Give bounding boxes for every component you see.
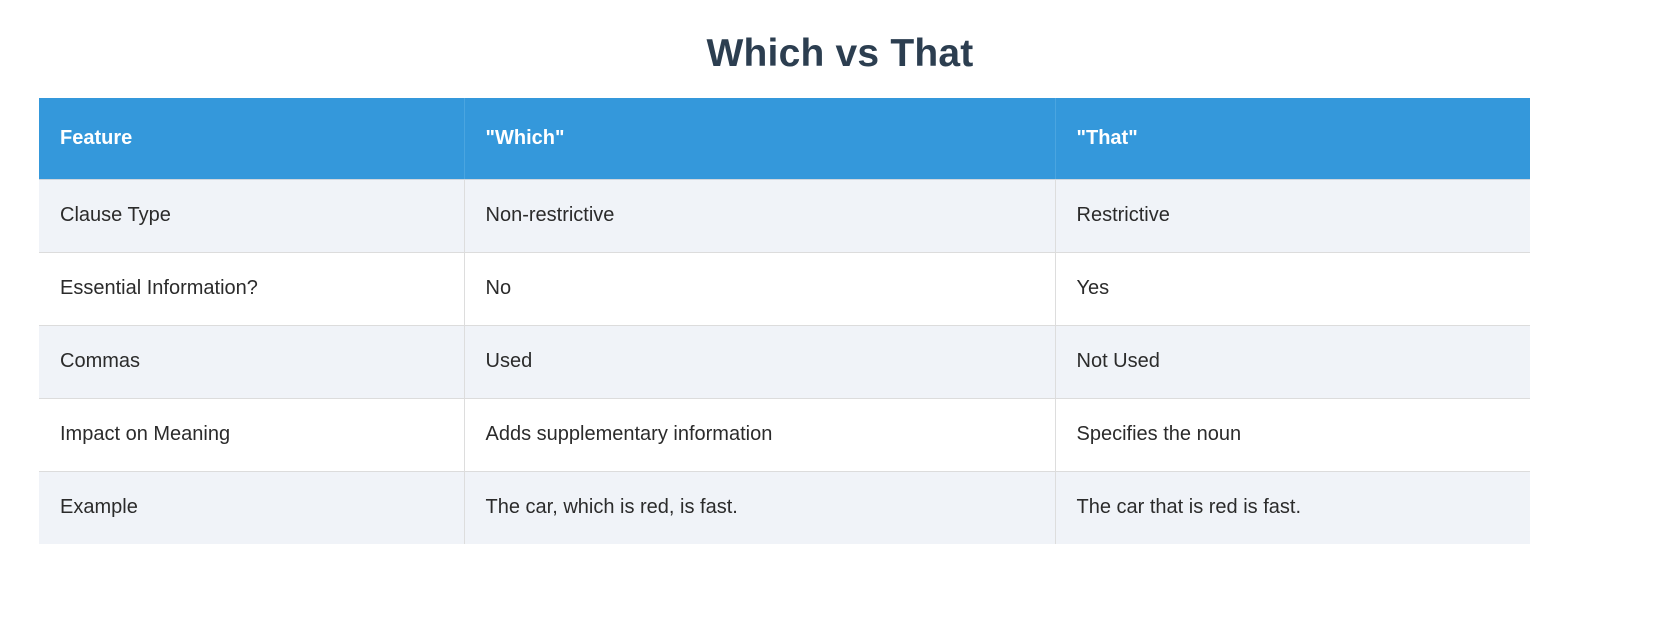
comparison-table: Feature "Which" "That" Clause Type Non-r… <box>39 98 1530 544</box>
cell-feature: Clause Type <box>39 179 464 252</box>
cell-that: Not Used <box>1055 325 1530 398</box>
column-header-which[interactable]: "Which" <box>464 98 1055 179</box>
cell-which: No <box>464 252 1055 325</box>
page-root: Which vs That Feature "Which" "That" Cla… <box>0 0 1680 626</box>
cell-feature: Impact on Meaning <box>39 398 464 471</box>
cell-which: Used <box>464 325 1055 398</box>
table-row: Example The car, which is red, is fast. … <box>39 471 1530 544</box>
cell-that: The car that is red is fast. <box>1055 471 1530 544</box>
table-row: Impact on Meaning Adds supplementary inf… <box>39 398 1530 471</box>
comparison-table-container: Feature "Which" "That" Clause Type Non-r… <box>39 98 1530 544</box>
cell-which: Adds supplementary information <box>464 398 1055 471</box>
cell-feature: Example <box>39 471 464 544</box>
cell-which: Non-restrictive <box>464 179 1055 252</box>
column-header-feature[interactable]: Feature <box>39 98 464 179</box>
cell-that: Restrictive <box>1055 179 1530 252</box>
page-title: Which vs That <box>0 27 1680 81</box>
table-row: Clause Type Non-restrictive Restrictive <box>39 179 1530 252</box>
table-header-row: Feature "Which" "That" <box>39 98 1530 179</box>
cell-which: The car, which is red, is fast. <box>464 471 1055 544</box>
cell-feature: Commas <box>39 325 464 398</box>
cell-that: Specifies the noun <box>1055 398 1530 471</box>
cell-feature: Essential Information? <box>39 252 464 325</box>
cell-that: Yes <box>1055 252 1530 325</box>
table-row: Commas Used Not Used <box>39 325 1530 398</box>
table-row: Essential Information? No Yes <box>39 252 1530 325</box>
table-body: Clause Type Non-restrictive Restrictive … <box>39 179 1530 544</box>
table-header: Feature "Which" "That" <box>39 98 1530 179</box>
column-header-that[interactable]: "That" <box>1055 98 1530 179</box>
